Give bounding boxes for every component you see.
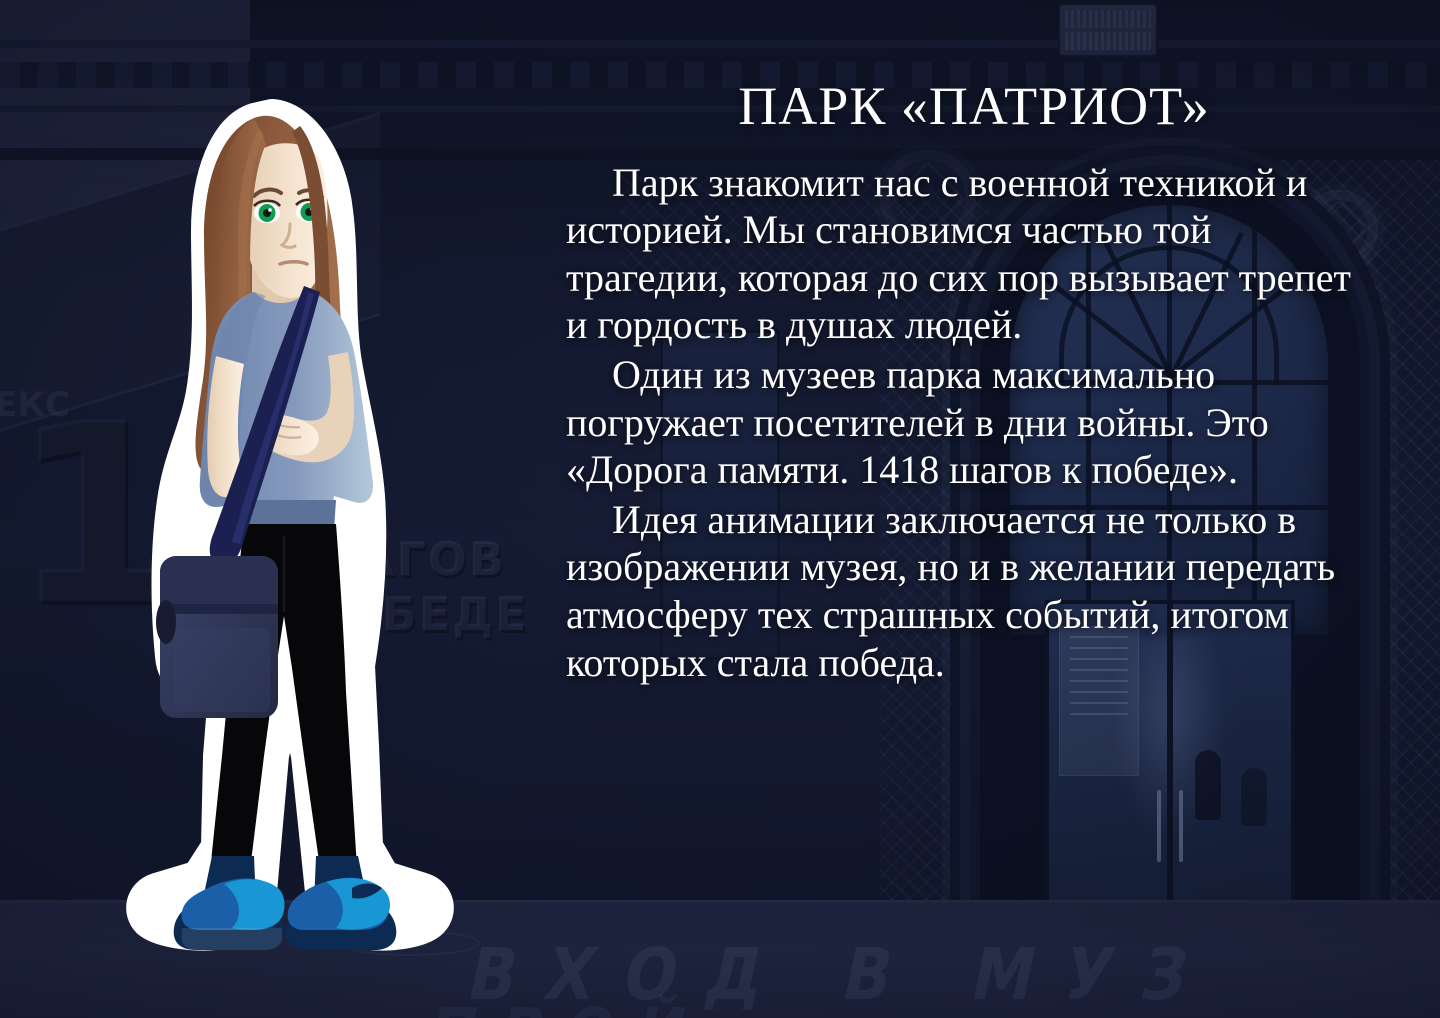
character-illustration <box>104 56 464 961</box>
door-handle[interactable] <box>1157 790 1161 862</box>
slide-canvas: ЕКС 14 ШАГОВ ПОБЕДЕ ВХОД В МУЗ ПРОЙ <box>0 0 1440 1018</box>
paragraph-3: Идея анимации заключается не только в из… <box>566 496 1382 686</box>
cornice-band <box>0 40 1440 48</box>
visitor-silhouette <box>1241 768 1267 826</box>
paragraph-2: Один из музеев парка максимально погружа… <box>566 351 1382 494</box>
paragraph-1: Парк знакомит нас с военной техникой и и… <box>566 159 1382 349</box>
roof-vent-grille <box>1060 5 1156 55</box>
text-column: ПАРК «ПАТРИОТ» Парк знакомит нас с военн… <box>566 78 1382 688</box>
visitor-silhouette <box>1195 750 1221 820</box>
shoulder-bag <box>156 556 278 718</box>
door-handle[interactable] <box>1179 790 1183 862</box>
floor-sign-line-2: ПРОЙ <box>422 995 716 1018</box>
page-title: ПАРК «ПАТРИОТ» <box>566 78 1382 135</box>
